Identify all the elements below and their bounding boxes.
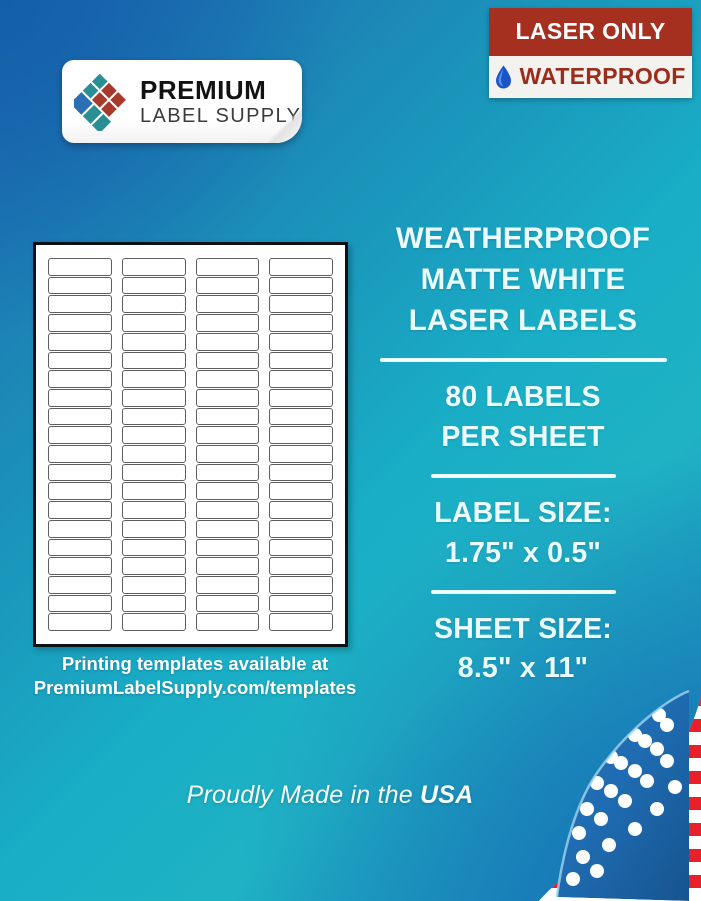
label-cell (122, 613, 186, 631)
label-cell (122, 352, 186, 370)
label-column (122, 258, 186, 631)
label-cell (122, 539, 186, 557)
label-cell (269, 314, 333, 332)
label-cell (269, 426, 333, 444)
label-cell (196, 539, 260, 557)
headline-line-2: MATTE WHITE (378, 259, 668, 300)
divider-3 (431, 590, 616, 594)
made-in-country: USA (420, 781, 473, 809)
water-drop-icon (495, 65, 512, 89)
label-cell (48, 370, 112, 388)
label-cell (48, 352, 112, 370)
label-size-caption: LABEL SIZE: (378, 494, 668, 534)
headline-line-1: WEATHERPROOF (378, 218, 668, 259)
label-cell (122, 370, 186, 388)
label-cell (196, 613, 260, 631)
brand-wordmark: PREMIUM LABEL SUPPLY (140, 77, 301, 126)
label-cell (48, 389, 112, 407)
product-package-image: LASER ONLY WATERPROOF PREM (0, 0, 701, 901)
label-cell (48, 333, 112, 351)
label-cell (196, 445, 260, 463)
made-in-prefix: Proudly Made in the (187, 781, 420, 809)
label-cell (48, 520, 112, 538)
badge-stack: LASER ONLY WATERPROOF (489, 8, 692, 98)
label-cell (269, 482, 333, 500)
label-cell (196, 501, 260, 519)
diamond-grid-logo-icon (74, 73, 134, 131)
label-sheet-preview (33, 242, 348, 647)
label-cell (48, 482, 112, 500)
label-cell (269, 295, 333, 313)
label-cell (196, 389, 260, 407)
label-column (196, 258, 260, 631)
label-cell (48, 258, 112, 276)
label-cell (48, 408, 112, 426)
label-column (48, 258, 112, 631)
label-cell (48, 595, 112, 613)
label-cell (122, 277, 186, 295)
label-cell (269, 258, 333, 276)
label-cell (269, 501, 333, 519)
label-cell (122, 389, 186, 407)
label-cell (196, 426, 260, 444)
divider-1 (380, 358, 667, 362)
label-cell (122, 482, 186, 500)
label-cell (196, 595, 260, 613)
flag-curl-graphic (539, 669, 701, 901)
label-cell (269, 352, 333, 370)
label-cell (196, 295, 260, 313)
label-cell (122, 520, 186, 538)
templates-note-line2: PremiumLabelSupply.com/templates (0, 676, 390, 700)
label-cell (48, 613, 112, 631)
labels-per-sheet: 80 LABELS PER SHEET (378, 378, 668, 458)
label-cell (196, 576, 260, 594)
label-cell (48, 557, 112, 575)
label-cell (196, 258, 260, 276)
label-cell (122, 557, 186, 575)
label-cell (48, 539, 112, 557)
label-cell (122, 445, 186, 463)
label-cell (48, 501, 112, 519)
label-cell (48, 314, 112, 332)
labels-count-line-2: PER SHEET (378, 418, 668, 458)
label-cell (122, 576, 186, 594)
label-size-block: LABEL SIZE: 1.75" x 0.5" (378, 494, 668, 574)
label-cell (196, 520, 260, 538)
label-cell (269, 539, 333, 557)
divider-2 (431, 474, 616, 478)
templates-note: Printing templates available at PremiumL… (0, 652, 390, 701)
label-cell (269, 576, 333, 594)
label-cell (48, 295, 112, 313)
label-cell (269, 333, 333, 351)
brand-logo-card: PREMIUM LABEL SUPPLY (62, 60, 302, 143)
label-column (269, 258, 333, 631)
label-cell (48, 445, 112, 463)
label-cell (269, 277, 333, 295)
label-cell (122, 408, 186, 426)
brand-name-top: PREMIUM (140, 77, 301, 103)
product-headline: WEATHERPROOF MATTE WHITE LASER LABELS (378, 218, 668, 341)
badge-waterproof: WATERPROOF (489, 56, 692, 98)
headline-line-3: LASER LABELS (378, 300, 668, 341)
label-cell (196, 314, 260, 332)
label-cell (269, 464, 333, 482)
label-cell (269, 389, 333, 407)
label-cell (196, 352, 260, 370)
flag-star-field (557, 691, 689, 901)
label-cell (122, 426, 186, 444)
label-cell (48, 426, 112, 444)
label-cell (122, 314, 186, 332)
label-cell (269, 520, 333, 538)
badge-laser-only: LASER ONLY (489, 8, 692, 56)
label-cell (122, 258, 186, 276)
label-cell (196, 482, 260, 500)
templates-note-line1: Printing templates available at (0, 652, 390, 676)
usa-flag-corner-curl (539, 669, 701, 901)
label-cell (122, 333, 186, 351)
label-size-value: 1.75" x 0.5" (378, 534, 668, 574)
label-grid (48, 258, 333, 631)
badge-waterproof-label: WATERPROOF (519, 63, 685, 90)
label-cell (269, 370, 333, 388)
label-cell (196, 370, 260, 388)
label-cell (48, 576, 112, 594)
label-cell (122, 295, 186, 313)
sheet-size-caption: SHEET SIZE: (378, 610, 668, 650)
label-cell (122, 501, 186, 519)
label-cell (196, 277, 260, 295)
label-cell (269, 445, 333, 463)
label-cell (269, 408, 333, 426)
label-cell (269, 595, 333, 613)
label-cell (196, 557, 260, 575)
label-cell (122, 595, 186, 613)
label-cell (196, 464, 260, 482)
label-cell (269, 557, 333, 575)
brand-name-bottom: LABEL SUPPLY (140, 106, 301, 126)
label-cell (48, 277, 112, 295)
product-info-column: WEATHERPROOF MATTE WHITE LASER LABELS 80… (378, 218, 668, 689)
label-cell (122, 464, 186, 482)
labels-count-line-1: 80 LABELS (378, 378, 668, 418)
label-cell (196, 333, 260, 351)
label-cell (196, 408, 260, 426)
label-cell (48, 464, 112, 482)
label-cell (269, 613, 333, 631)
